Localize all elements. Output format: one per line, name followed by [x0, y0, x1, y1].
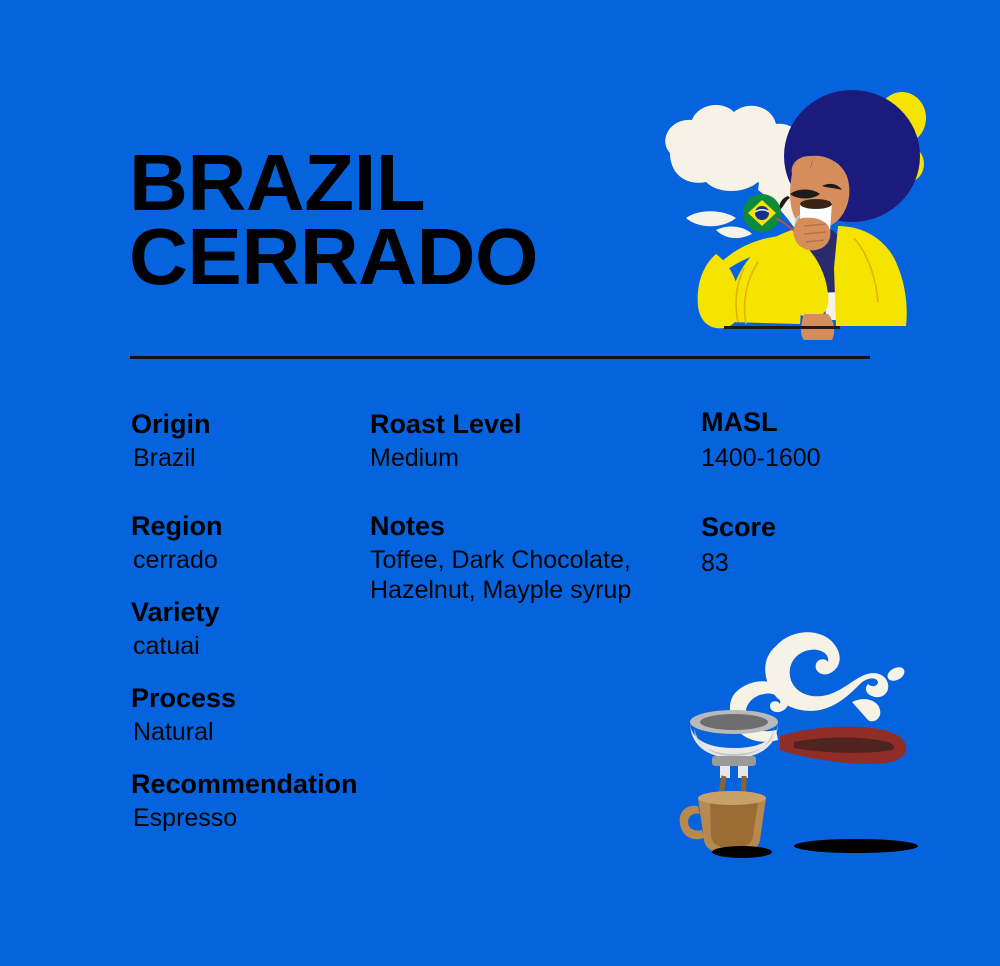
spec-value-roast-level: Medium — [370, 442, 459, 475]
spec-label-origin: Origin — [131, 411, 211, 438]
ground-shadow — [794, 839, 918, 853]
spec-label-region: Region — [131, 513, 223, 540]
portafilter-basket-icon — [690, 710, 778, 778]
spec-label-recommendation: Recommendation — [131, 771, 358, 798]
spec-value-process: Natural — [133, 716, 214, 749]
spec-label-notes: Notes — [370, 513, 445, 540]
spec-value-masl: 1400-1600 — [701, 442, 821, 475]
spec-label-variety: Variety — [131, 599, 220, 626]
spec-label-masl: MASL — [701, 409, 778, 436]
header-divider — [130, 356, 870, 359]
spec-value-region: cerrado — [133, 544, 218, 577]
spec-value-origin: Brazil — [133, 442, 196, 475]
person-drinking-coffee-illustration — [640, 78, 950, 340]
spec-value-notes-line1: Toffee, Dark Chocolate, — [370, 544, 631, 577]
coffee-label-card: BRAZIL CERRADO Origin Brazil Region cerr… — [0, 0, 1000, 966]
spec-value-notes-line2: Hazelnut, Mayple syrup — [370, 574, 631, 607]
spec-value-score: 83 — [701, 547, 729, 580]
spec-value-recommendation: Espresso — [133, 802, 237, 835]
spec-value-variety: catuai — [133, 630, 200, 663]
spec-label-roast-level: Roast Level — [370, 411, 522, 438]
spec-label-score: Score — [701, 514, 776, 541]
portafilter-handle-icon — [780, 727, 906, 764]
espresso-cup-icon — [680, 791, 766, 854]
portafilter-espresso-illustration — [672, 618, 952, 858]
brazil-flag-patch-icon — [743, 194, 781, 232]
table-line — [724, 326, 840, 329]
cup-shadow — [712, 846, 772, 858]
spec-label-process: Process — [131, 685, 236, 712]
